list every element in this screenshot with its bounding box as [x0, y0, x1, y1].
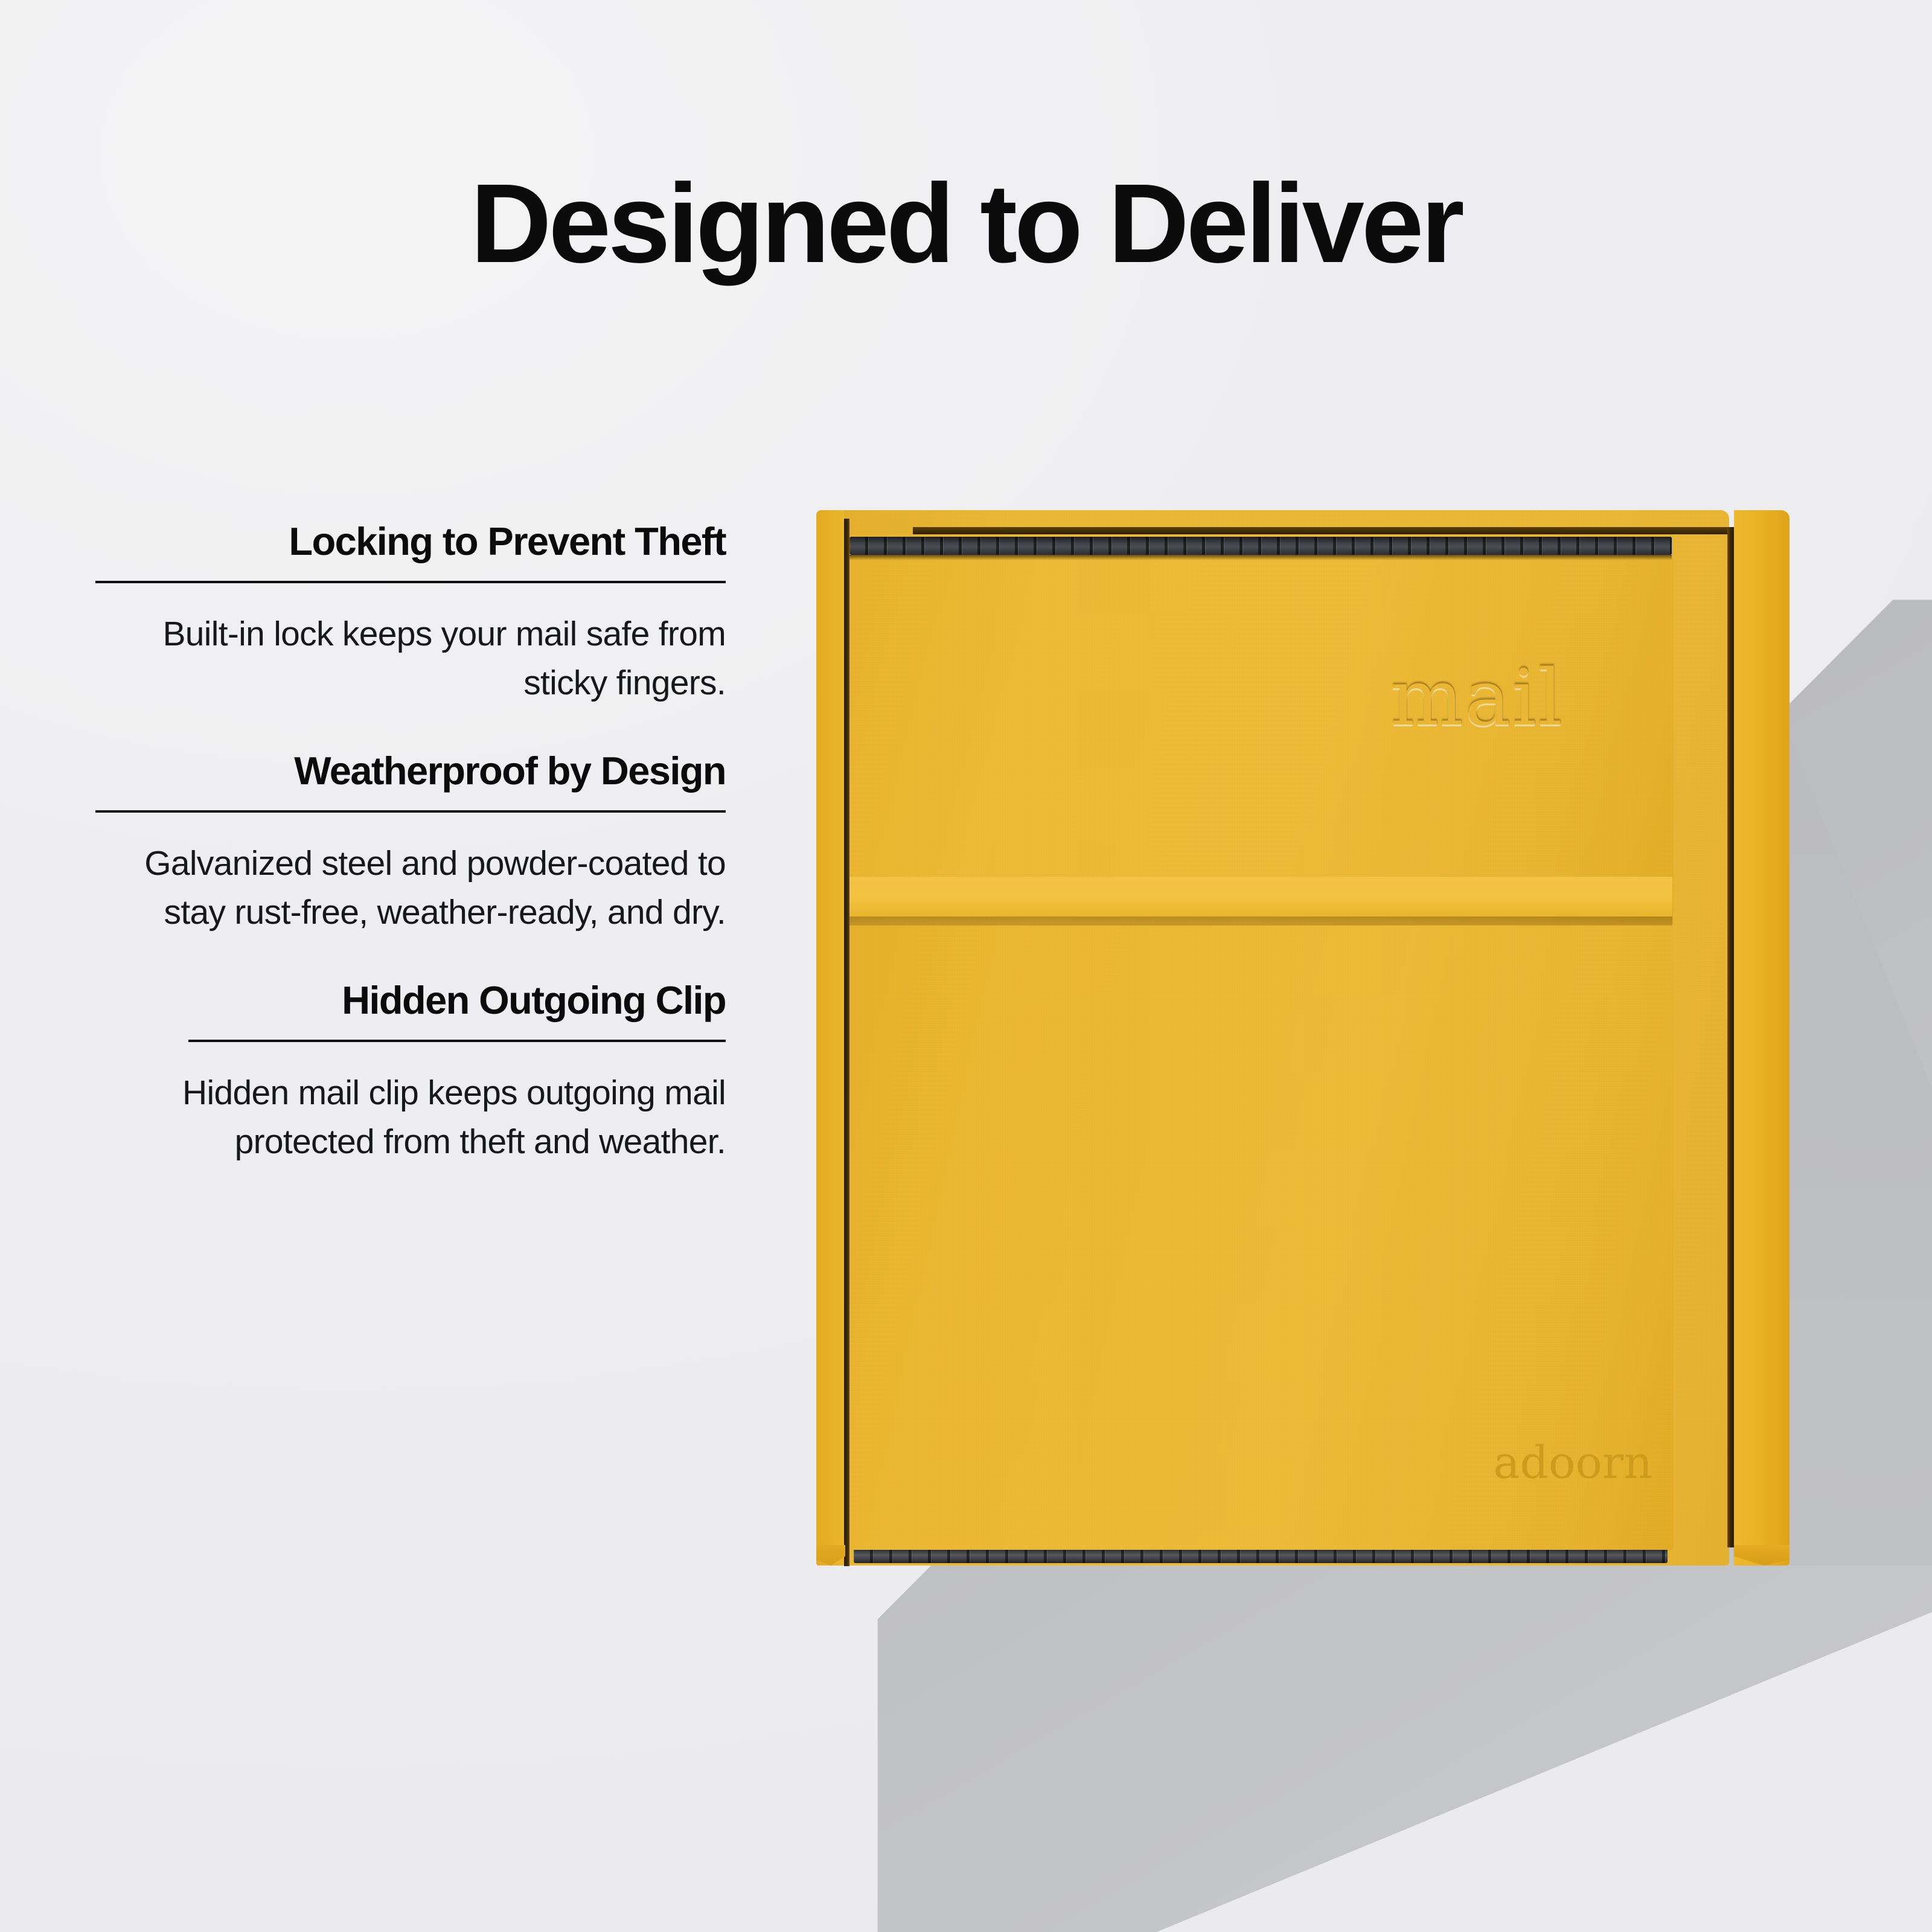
feature-item-outgoing-clip: Hidden Outgoing Clip Hidden mail clip ke…	[95, 979, 726, 1166]
infographic-canvas: Designed to Deliver Locking to Prevent T…	[0, 0, 1932, 1932]
brand-logo: adoorn	[1493, 1441, 1652, 1485]
mailbox-flap-lip	[849, 877, 1672, 916]
feature-body: Galvanized steel and powder-coated to st…	[95, 839, 726, 937]
page-title: Designed to Deliver	[0, 168, 1932, 280]
bottom-hinge-knuckles	[854, 1550, 1668, 1563]
feature-divider	[188, 1040, 726, 1042]
mailbox-top-recess-gap	[913, 527, 1734, 534]
feature-title: Hidden Outgoing Clip	[95, 979, 726, 1022]
hinge-shadow	[849, 555, 1672, 560]
feature-title: Locking to Prevent Theft	[95, 520, 726, 563]
feature-divider-wrap	[95, 563, 726, 610]
feature-divider-wrap	[95, 792, 726, 839]
feature-item-weatherproof: Weatherproof by Design Galvanized steel …	[95, 750, 726, 937]
mailbox-left-gap	[844, 519, 849, 1566]
feature-item-locking: Locking to Prevent Theft Built-in lock k…	[95, 520, 726, 708]
mailbox-left-sidewall	[816, 510, 844, 1566]
product-image-mailbox: mail adoorn	[816, 510, 1790, 1627]
hinge-knuckles	[849, 537, 1672, 555]
feature-divider	[95, 810, 726, 813]
feature-body: Built-in lock keeps your mail safe from …	[95, 610, 726, 708]
feature-title: Weatherproof by Design	[95, 750, 726, 792]
mailbox-mail-flap: mail	[849, 534, 1674, 924]
feature-divider	[95, 581, 726, 583]
mailbox-right-gap	[1727, 527, 1734, 1547]
feature-divider-wrap	[95, 1022, 726, 1069]
feature-body: Hidden mail clip keeps outgoing mail pro…	[95, 1069, 726, 1166]
mailbox-top-hinge	[849, 537, 1672, 555]
mailbox-bottom-hinge	[854, 1550, 1668, 1563]
feature-list: Locking to Prevent Theft Built-in lock k…	[95, 520, 726, 1166]
mailbox-door-panel: adoorn	[849, 926, 1674, 1550]
mailbox-right-frame	[1734, 510, 1790, 1566]
mail-emboss-label: mail	[1390, 660, 1564, 737]
